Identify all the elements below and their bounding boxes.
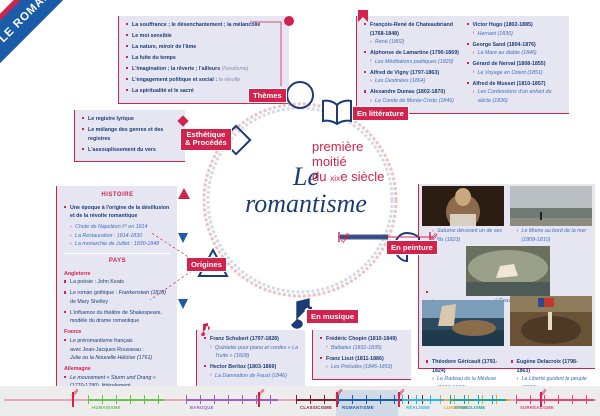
node-origines[interactable]: Origines bbox=[186, 257, 227, 272]
themes-dot-icon bbox=[282, 14, 296, 28]
period-century: xix bbox=[330, 173, 340, 183]
period-line-1: première bbox=[312, 139, 363, 154]
esthetique-diamond-dot-icon bbox=[176, 114, 190, 128]
music-note-icon-small bbox=[196, 322, 210, 336]
histoire-triangle-icon bbox=[176, 186, 192, 202]
node-peinture[interactable]: En peinture bbox=[386, 240, 438, 255]
infographic-canvas: LE ROMANTISME La souffrance ; le désench… bbox=[0, 0, 600, 416]
origines-arrow-icon-1 bbox=[176, 231, 190, 245]
node-litterature[interactable]: En littérature bbox=[352, 106, 409, 121]
period-line-3a: du bbox=[312, 169, 330, 184]
period-line-3c: e siècle bbox=[340, 169, 384, 184]
node-musique[interactable]: En musique bbox=[306, 309, 359, 324]
node-esthetique-line2[interactable]: & Procédés bbox=[185, 138, 227, 147]
themes-circle-icon bbox=[282, 78, 318, 112]
period-line-2: moitié bbox=[312, 154, 347, 169]
node-themes[interactable]: Thèmes bbox=[248, 88, 287, 103]
open-book-icon bbox=[320, 96, 354, 126]
period-label: première moitié du xixe siècle bbox=[312, 140, 432, 184]
origines-arrow-icon-2 bbox=[176, 297, 190, 311]
litterature-bookmark-icon bbox=[357, 9, 369, 23]
connector-graphics bbox=[0, 0, 600, 416]
